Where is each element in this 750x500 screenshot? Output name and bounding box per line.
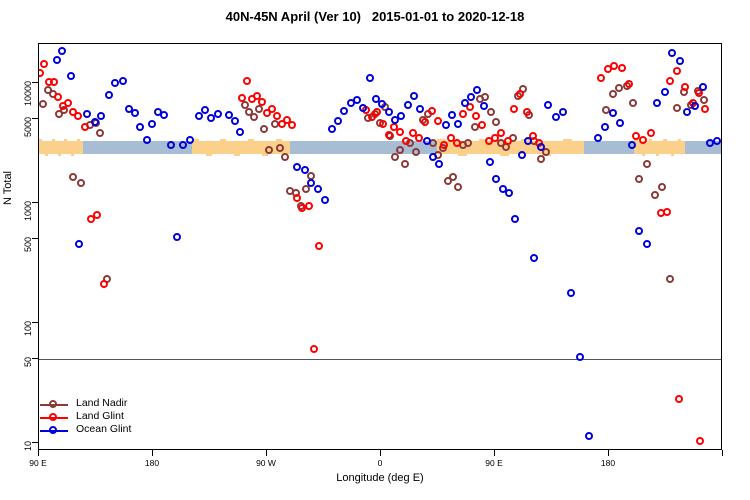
- data-point: [597, 74, 605, 82]
- data-point: [683, 108, 691, 116]
- data-point: [661, 88, 669, 96]
- x-axis-tick-label: 180: [132, 458, 172, 468]
- data-point: [537, 155, 545, 163]
- legend-item: Ocean Glint: [40, 424, 160, 437]
- data-point: [173, 233, 181, 241]
- data-point: [552, 113, 560, 121]
- data-point: [518, 151, 526, 159]
- x-axis-tick: [380, 450, 381, 456]
- x-axis-tick-label: 90 E: [18, 458, 58, 468]
- x-axis-tick: [38, 450, 39, 456]
- data-point: [537, 143, 545, 151]
- data-point: [105, 91, 113, 99]
- data-point: [301, 166, 309, 174]
- data-point: [497, 129, 505, 137]
- data-point: [83, 110, 91, 118]
- data-point: [635, 227, 643, 235]
- data-point: [666, 275, 674, 283]
- data-point: [523, 108, 531, 116]
- data-point: [93, 211, 101, 219]
- data-point: [97, 112, 105, 120]
- data-point: [615, 84, 623, 92]
- data-point: [39, 100, 47, 108]
- data-point: [658, 183, 666, 191]
- data-point: [448, 111, 456, 119]
- data-point: [653, 99, 661, 107]
- data-point: [492, 118, 500, 126]
- data-point: [53, 56, 61, 64]
- data-point: [243, 77, 251, 85]
- data-point: [559, 108, 567, 116]
- data-point: [666, 77, 674, 85]
- data-point: [594, 134, 602, 142]
- data-point: [281, 153, 289, 161]
- data-point: [310, 345, 318, 353]
- data-point: [373, 108, 381, 116]
- data-point: [454, 120, 462, 128]
- data-point: [64, 99, 72, 107]
- legend-marker: [49, 426, 57, 434]
- data-point: [576, 353, 584, 361]
- legend-label: Ocean Glint: [76, 423, 131, 435]
- data-point: [67, 72, 75, 80]
- data-point: [628, 141, 636, 149]
- data-point: [265, 146, 273, 154]
- data-point: [50, 78, 58, 86]
- data-point: [516, 90, 524, 98]
- data-point: [505, 189, 513, 197]
- data-point: [492, 175, 500, 183]
- data-point: [305, 202, 313, 210]
- chart-title: 40N-45N April (Ver 10) 2015-01-01 to 202…: [0, 9, 750, 24]
- data-point: [610, 62, 618, 70]
- data-point: [421, 118, 429, 126]
- data-point: [186, 136, 194, 144]
- x-axis-tick: [152, 450, 153, 456]
- data-point: [625, 80, 633, 88]
- y-axis-tick-label: 50: [23, 357, 33, 385]
- data-point: [530, 254, 538, 262]
- data-point: [273, 112, 281, 120]
- data-point: [415, 134, 423, 142]
- x-axis-tick-label: 90 W: [246, 458, 286, 468]
- data-point: [111, 79, 119, 87]
- data-point: [136, 123, 144, 131]
- data-point: [675, 395, 683, 403]
- y-axis-tick-label: 100: [23, 321, 33, 349]
- data-point: [143, 136, 151, 144]
- data-point: [629, 99, 637, 107]
- data-point: [504, 137, 512, 145]
- data-point: [449, 173, 457, 181]
- data-point: [276, 144, 284, 152]
- legend-label: Land Nadir: [76, 397, 127, 409]
- data-point: [635, 175, 643, 183]
- data-point: [643, 160, 651, 168]
- x-axis-tick-label: 180: [588, 458, 628, 468]
- data-point: [676, 57, 684, 65]
- x-axis-tick-label: 0: [360, 458, 400, 468]
- data-point: [681, 83, 689, 91]
- y-axis-tick-label: 500: [23, 237, 33, 265]
- data-point: [238, 94, 246, 102]
- data-point: [314, 185, 322, 193]
- data-point: [412, 148, 420, 156]
- x-axis-tick: [494, 450, 495, 456]
- data-point: [668, 49, 676, 57]
- legend-marker: [49, 400, 57, 408]
- data-point: [434, 117, 442, 125]
- data-point: [472, 112, 480, 120]
- data-point: [236, 128, 244, 136]
- data-point: [366, 74, 374, 82]
- data-point: [643, 240, 651, 248]
- data-point: [359, 104, 367, 112]
- y-axis-tick-label: 10000: [23, 81, 33, 109]
- data-point: [416, 105, 424, 113]
- data-point: [696, 437, 704, 445]
- data-point: [250, 113, 258, 121]
- data-point: [442, 121, 450, 129]
- data-point: [131, 109, 139, 117]
- data-point: [473, 86, 481, 94]
- data-point: [258, 98, 266, 106]
- data-point: [459, 110, 467, 118]
- data-point: [486, 158, 494, 166]
- data-point: [487, 108, 495, 116]
- data-point: [440, 141, 448, 149]
- data-point: [379, 120, 387, 128]
- data-point: [334, 117, 342, 125]
- data-point: [464, 139, 472, 147]
- data-point: [353, 96, 361, 104]
- data-point: [701, 105, 709, 113]
- data-point: [58, 47, 66, 55]
- data-point: [160, 111, 168, 119]
- data-point: [315, 242, 323, 250]
- data-point: [385, 131, 393, 139]
- data-point: [467, 93, 475, 101]
- data-point: [423, 137, 431, 145]
- data-point: [293, 194, 301, 202]
- data-point: [167, 141, 175, 149]
- data-point: [260, 125, 268, 133]
- data-point: [478, 121, 486, 129]
- legend-marker: [49, 413, 57, 421]
- data-point: [195, 112, 203, 120]
- data-point: [609, 109, 617, 117]
- data-point: [544, 101, 552, 109]
- data-point: [481, 93, 489, 101]
- data-point: [396, 128, 404, 136]
- y-axis-tick-label: 5000: [23, 117, 33, 145]
- data-point: [618, 64, 626, 72]
- data-point: [616, 119, 624, 127]
- data-point: [74, 112, 82, 120]
- data-point: [401, 160, 409, 168]
- figure-root: 40N-45N April (Ver 10) 2015-01-01 to 202…: [0, 0, 750, 500]
- data-point: [340, 107, 348, 115]
- data-point: [511, 215, 519, 223]
- data-point: [54, 93, 62, 101]
- legend-label: Land Glint: [76, 410, 124, 422]
- data-point: [96, 129, 104, 137]
- data-point: [214, 110, 222, 118]
- data-point: [480, 102, 488, 110]
- x-axis-tick: [608, 450, 609, 456]
- data-point: [148, 120, 156, 128]
- data-point: [585, 432, 593, 440]
- data-point: [385, 108, 393, 116]
- data-point: [119, 77, 127, 85]
- data-point: [663, 208, 671, 216]
- data-point: [435, 160, 443, 168]
- data-point: [396, 146, 404, 154]
- data-point: [651, 191, 659, 199]
- x-axis-tick-label: 90 E: [474, 458, 514, 468]
- data-point: [69, 173, 77, 181]
- data-point: [647, 129, 655, 137]
- data-point: [404, 101, 412, 109]
- data-point: [639, 136, 647, 144]
- data-point: [454, 183, 462, 191]
- legend: Land NadirLand GlintOcean Glint: [40, 398, 160, 437]
- data-point: [40, 60, 48, 68]
- x-axis-tick: [266, 450, 267, 456]
- data-point: [201, 106, 209, 114]
- data-point: [77, 179, 85, 187]
- data-point: [397, 112, 405, 120]
- y-axis-tick-label: 1000: [23, 201, 33, 229]
- data-point: [231, 117, 239, 125]
- plot-area: [38, 43, 722, 450]
- data-point: [713, 137, 721, 145]
- data-point: [75, 240, 83, 248]
- data-point: [673, 67, 681, 75]
- y-axis-label: N Total: [2, 0, 16, 407]
- y-axis-label-text: N Total: [2, 138, 14, 238]
- scatter-points: [39, 44, 721, 449]
- data-point: [321, 196, 329, 204]
- data-point: [700, 96, 708, 104]
- data-point: [328, 125, 336, 133]
- data-point: [510, 105, 518, 113]
- data-point: [288, 121, 296, 129]
- data-point: [673, 104, 681, 112]
- data-point: [691, 102, 699, 110]
- data-point: [453, 139, 461, 147]
- data-point: [428, 107, 436, 115]
- data-point: [81, 123, 89, 131]
- data-point: [567, 289, 575, 297]
- data-point: [410, 92, 418, 100]
- data-point: [100, 280, 108, 288]
- x-axis-label: Longitude (deg E): [38, 472, 722, 484]
- data-point: [699, 83, 707, 91]
- data-point: [429, 153, 437, 161]
- x-axis-tick: [722, 450, 723, 456]
- data-point: [601, 123, 609, 131]
- data-point: [391, 153, 399, 161]
- data-point: [39, 69, 44, 77]
